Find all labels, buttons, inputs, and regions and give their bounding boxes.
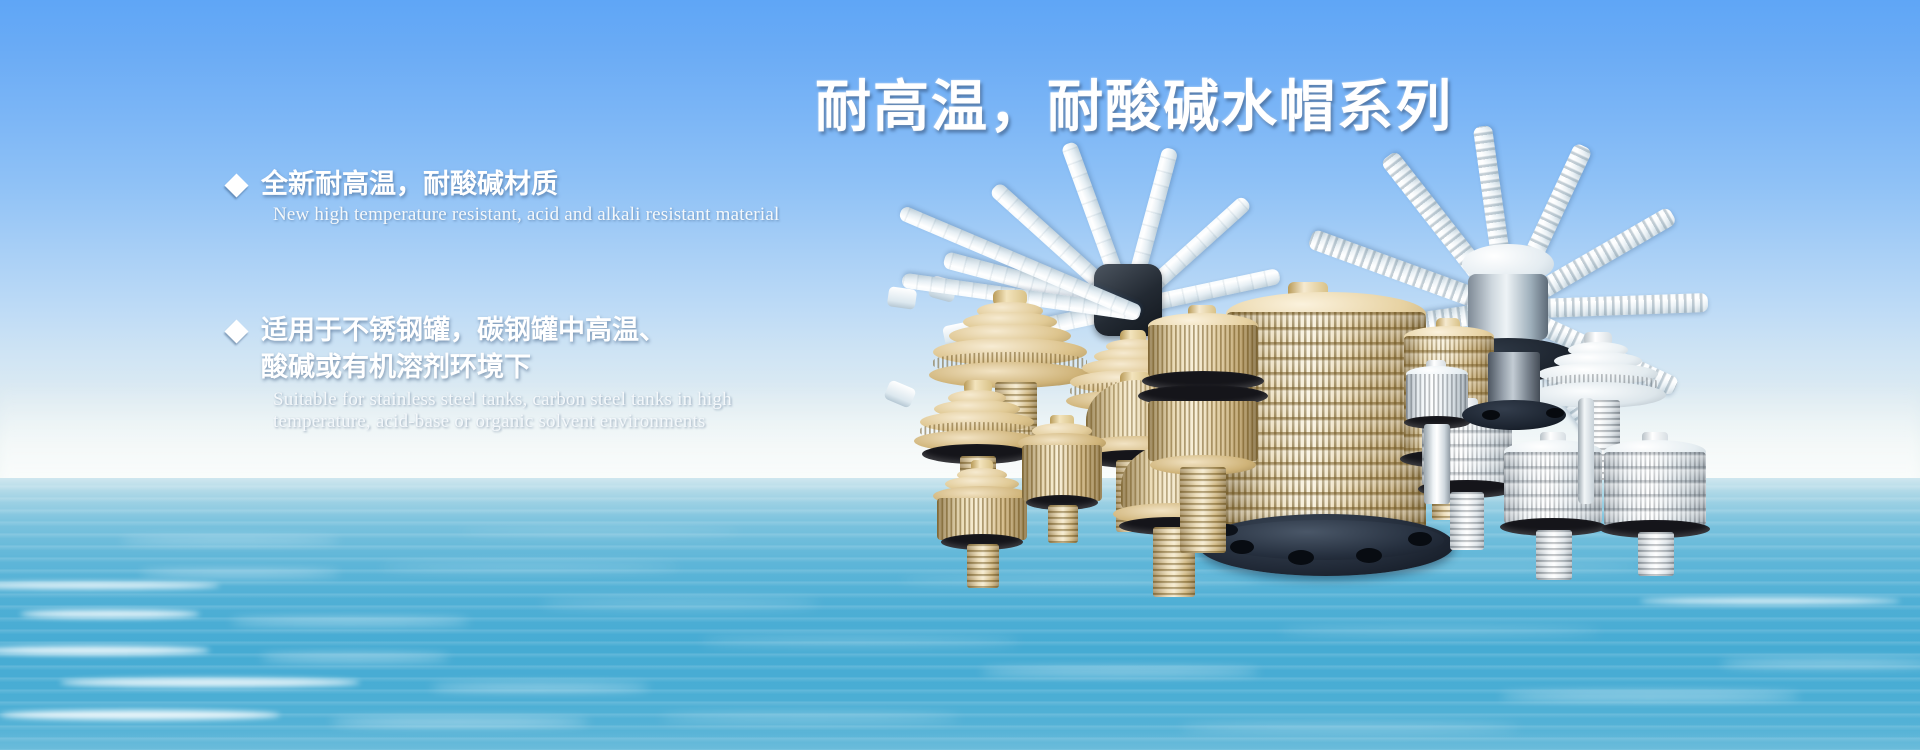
feature-bullet-1: 全新耐高温，耐酸碱材质 New high temperature resista… [228,166,780,227]
feature-bullet-2-cn: 适用于不锈钢罐，碳钢罐中高温、 酸碱或有机溶剂环境下 [261,312,666,387]
banner-headline: 耐高温，耐酸碱水帽系列 [815,62,1515,143]
feature-bullet-2: 适用于不锈钢罐，碳钢罐中高温、 酸碱或有机溶剂环境下 Suitable for … [228,312,732,433]
diamond-bullet-icon [224,319,248,343]
product-banner: 耐高温，耐酸碱水帽系列 全新耐高温，耐酸碱材质 New high tempera… [0,0,1920,750]
feature-bullet-2-en: Suitable for stainless steel tanks, carb… [273,389,732,434]
feature-bullet-1-en: New high temperature resistant, acid and… [273,204,780,226]
feature-bullet-1-cn: 全新耐高温，耐酸碱材质 [261,166,558,203]
diamond-bullet-icon [224,173,248,197]
